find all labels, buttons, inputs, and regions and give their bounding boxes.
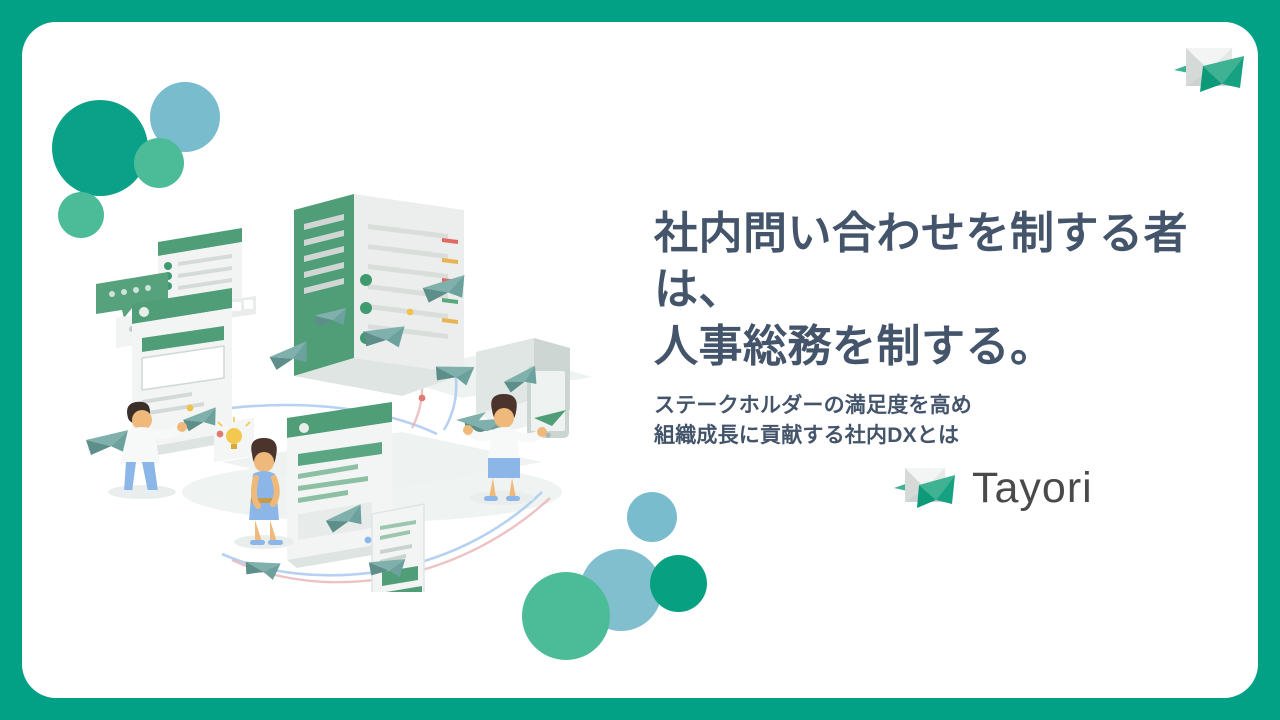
slide-root: 社内問い合わせを制する者は、 人事総務を制する。 ステークホルダーの満足度を高め… [0,0,1280,720]
isometric-inquiry-illustration [72,162,692,592]
text-block: 社内問い合わせを制する者は、 人事総務を制する。 ステークホルダーの満足度を高め… [654,206,1234,451]
page-subtitle: ステークホルダーの満足度を高め 組織成長に貢献する社内DXとは [654,391,1234,451]
page-title: 社内問い合わせを制する者は、 人事総務を制する。 [654,206,1234,375]
illustration-mobile-chat-card [372,504,424,592]
brand-name: Tayori [972,467,1093,510]
tayori-corner-logo-icon [1170,40,1248,100]
tayori-logo-icon [892,462,958,514]
slide-card: 社内問い合わせを制する者は、 人事総務を制する。 ステークホルダーの満足度を高め… [22,22,1258,698]
illustration-idea-card [214,417,254,462]
brand-lockup: Tayori [892,462,1093,514]
